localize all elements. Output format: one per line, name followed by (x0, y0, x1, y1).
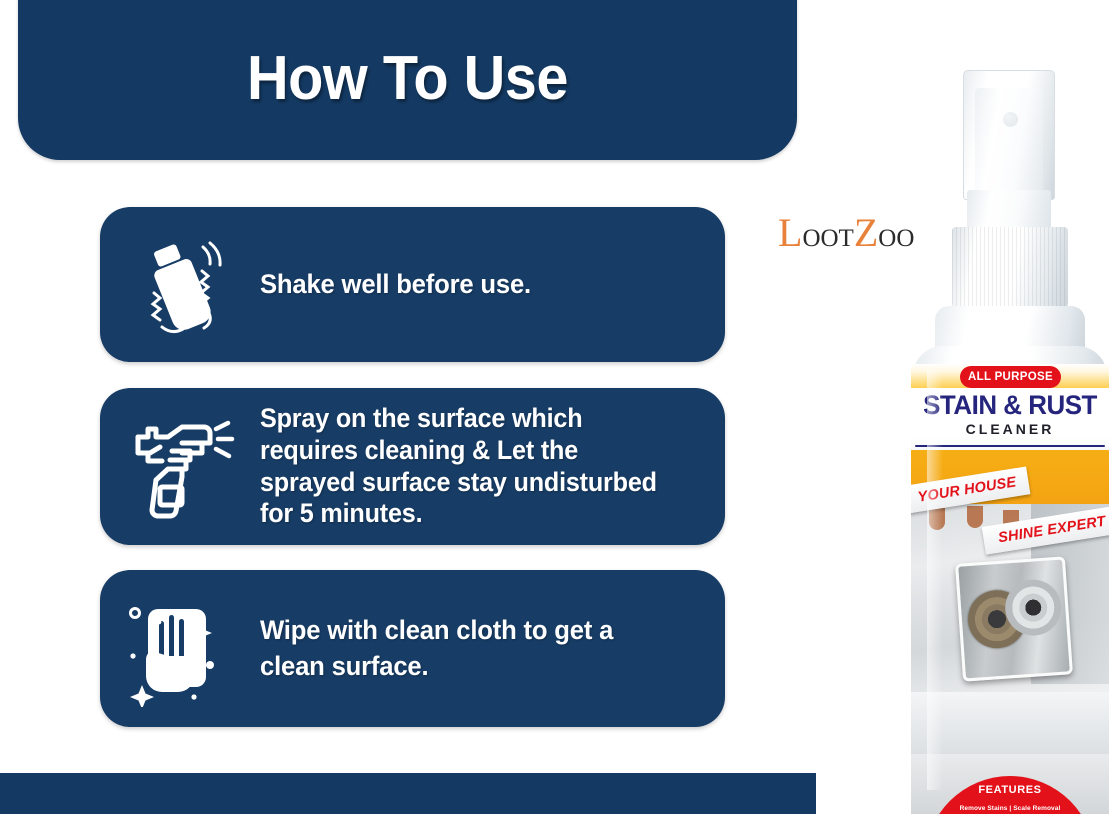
step-card-3: Wipe with clean cloth to get a clean sur… (100, 570, 725, 727)
brand-logo: LOOTZOO (778, 213, 914, 253)
bottle-cap-dot (1003, 112, 1018, 127)
header-banner: How To Use (18, 0, 797, 160)
step-3-text: Wipe with clean cloth to get a clean sur… (260, 613, 702, 683)
bottom-accent-bar (0, 773, 816, 814)
step-1-text: Shake well before use. (260, 268, 554, 301)
logo-text-oot: OOT (802, 225, 853, 252)
step-card-2: Spray on the surface which requires clea… (100, 388, 725, 545)
wiping-hand-sparkle-icon (100, 591, 260, 707)
feature-item: Remove Stains | Scale Removal (925, 802, 1095, 814)
photo-counter (911, 692, 1109, 762)
features-title: FEATURES (925, 784, 1095, 796)
before-after-burner-photo (955, 556, 1073, 681)
product-label: ALL PURPOSE STAIN & RUST CLEANER YOUR HO… (911, 364, 1109, 814)
photo-lamp (967, 506, 983, 528)
label-divider (915, 445, 1105, 447)
photo-lamp (929, 508, 945, 530)
product-spray-bottle: ALL PURPOSE STAIN & RUST CLEANER YOUR HO… (905, 70, 1113, 814)
product-name: STAIN & RUST (915, 390, 1105, 421)
all-purpose-badge: ALL PURPOSE (960, 366, 1061, 388)
logo-letter-l: L (778, 210, 802, 255)
infographic-canvas: How To Use Shake well before use. (0, 0, 1114, 814)
product-subtitle: CLEANER (911, 421, 1109, 437)
bottle-cap-step (967, 190, 1051, 232)
bottle-cap-inner (975, 88, 1043, 200)
bottle-ribbed-collar (952, 227, 1068, 309)
step-2-text: Spray on the surface which requires clea… (260, 403, 702, 529)
spray-trigger-bottle-icon (100, 411, 260, 523)
shaking-bottle-icon (100, 231, 260, 339)
page-title: How To Use (45, 0, 769, 160)
logo-letter-z: Z (854, 210, 878, 255)
step-card-1: Shake well before use. (100, 207, 725, 362)
features-list: Remove Stains | Scale Removal Bright Sta… (925, 802, 1095, 814)
